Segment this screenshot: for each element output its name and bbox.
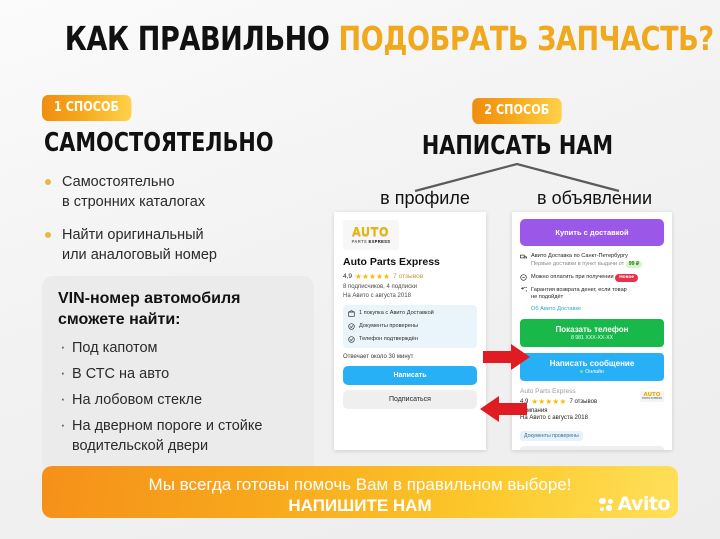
box-icon <box>348 310 355 317</box>
online-dot-icon <box>580 370 583 373</box>
title-part-gold: ПОДОБРАТЬ ЗАПЧАСТЬ? <box>339 19 714 58</box>
step-badge-two: 2 СПОСОБ <box>472 98 561 124</box>
check-circle-icon <box>348 336 355 343</box>
profile-screenshot-card: AUTO PARTS EXPRESS Auto Parts Express 4,… <box>334 212 486 450</box>
badge-delivery-purchase: 1 покупка с Авито Доставкой <box>348 310 472 317</box>
rating-value: 4,9 <box>343 273 352 280</box>
about-delivery-link[interactable]: Об Авито Доставке <box>531 306 664 312</box>
seller-reviews-link[interactable]: 7 отзывов <box>569 399 597 405</box>
arrow-left-icon <box>480 396 528 422</box>
avito-dots-icon <box>599 498 614 512</box>
avito-logo: Avito <box>599 495 670 514</box>
method-two-column-header: 2 СПОСОБ НАПИСАТЬ НАМ <box>352 98 682 159</box>
step-badge-one: 1 СПОСОБ <box>42 95 131 121</box>
arrow-right-icon <box>483 344 531 370</box>
wallet-icon <box>520 274 527 281</box>
list-item: Под капотом <box>58 339 298 358</box>
seller-since: На Авито с августа 2018 <box>520 415 664 421</box>
show-phone-button[interactable]: Показать телефон 8 981 XXX-XX-XX <box>520 319 664 347</box>
masked-phone-number: 8 981 XXX-XX-XX <box>520 335 664 341</box>
method-two-heading: НАПИСАТЬ НАМ <box>421 133 612 159</box>
badge-phone-confirmed: Телефон подтверждён <box>348 336 472 343</box>
show-phone-label: Показать телефон <box>520 325 664 334</box>
method-one-column: 1 СПОСОБ САМОСТОЯТЕЛЬНО Самостоятельнов … <box>42 95 342 278</box>
followers-count: 8 подписчиков, 4 подписки <box>343 284 477 290</box>
truck-icon <box>520 253 527 260</box>
badge-label: 1 покупка с Авито Доставкой <box>359 310 434 316</box>
advert-screenshot-card: Купить с доставкой Авито Доставка по Сан… <box>512 212 672 450</box>
trust-badges-box: 1 покупка с Авито Доставкой Документы пр… <box>343 305 477 348</box>
badge-label: Телефон подтверждён <box>359 336 418 342</box>
delivery-subtitle: Первые доставки в пункт выдачи от <box>531 261 624 267</box>
seller-type: Компания <box>520 408 664 414</box>
new-badge: Новое <box>615 274 638 282</box>
write-message-label: Написать сообщение <box>520 359 664 368</box>
vin-info-card: VIN-номер автомобилясможете найти: Под к… <box>42 276 314 477</box>
vin-card-title: VIN-номер автомобилясможете найти: <box>58 289 298 331</box>
refund-guarantee-row: Гарантия возврата денег, если товарне по… <box>520 287 664 302</box>
return-arrow-icon <box>520 287 527 294</box>
subscribe-button[interactable]: Подписаться <box>343 390 477 409</box>
list-item: На дверном пороге и стойкеводительской д… <box>58 417 298 456</box>
rating-row: 4,9 ★★★★★ 7 отзывов <box>343 272 477 281</box>
list-item: В СТС на авто <box>58 365 298 384</box>
subscribe-seller-button[interactable]: Подписаться на продавца <box>520 446 664 450</box>
check-circle-icon <box>348 323 355 330</box>
delivery-price-pill: 99 ₽ <box>626 261 643 268</box>
sublabel-profile: в профиле <box>350 188 500 209</box>
page-title: КАК ПРАВИЛЬНО ПОДОБРАТЬ ЗАПЧАСТЬ? <box>0 22 720 55</box>
banner-line-one: Мы всегда готовы помочь Вам в правильном… <box>42 474 678 495</box>
delivery-title: Авито Доставка по Санкт-Петербургу <box>531 253 628 259</box>
auto-parts-express-logo: AUTO PARTS EXPRESS <box>343 220 399 250</box>
logo-sub-right: EXPRESS <box>368 239 390 244</box>
answer-time: Отвечает около 30 минут <box>343 354 477 360</box>
seller-block: AUTO PARTS EXPRESS Auto Parts Express 4,… <box>520 388 664 450</box>
payment-label: Можно оплатить при получении <box>531 274 614 280</box>
method-one-bullets: Самостоятельнов стронних каталогах Найти… <box>42 172 342 265</box>
badge-documents-verified: Документы проверены <box>348 323 472 330</box>
logo-main-text: AUTO <box>352 226 389 238</box>
method-one-heading: САМОСТОЯТЕЛЬНО <box>44 130 282 156</box>
write-message-button[interactable]: Написать сообщение Онлайн <box>520 353 664 381</box>
seller-logo-sub: PARTS EXPRESS <box>642 398 662 400</box>
seller-logo: AUTO PARTS EXPRESS <box>640 391 664 402</box>
avito-wordmark: Avito <box>617 495 670 514</box>
payment-on-receipt-row: Можно оплатить при получении Новое <box>520 274 664 282</box>
poster-root: КАК ПРАВИЛЬНО ПОДОБРАТЬ ЗАПЧАСТЬ? 1 СПОС… <box>0 0 720 539</box>
list-item: На лобовом стекле <box>58 391 298 410</box>
bottom-cta-banner: Мы всегда готовы помочь Вам в правильном… <box>42 466 678 518</box>
buy-with-delivery-button[interactable]: Купить с доставкой <box>520 219 664 246</box>
seller-docs-badge: Документы проверены <box>520 431 583 441</box>
stars-icon: ★★★★★ <box>531 397 566 406</box>
banner-line-two: НАПИШИТЕ НАМ <box>42 495 678 517</box>
title-part-black: КАК ПРАВИЛЬНО <box>65 19 330 58</box>
badge-label: Документы проверены <box>359 323 418 329</box>
delivery-info-row: Авито Доставка по Санкт-Петербургу Первы… <box>520 253 664 269</box>
shop-name: Auto Parts Express <box>343 256 477 268</box>
stars-icon: ★★★★★ <box>355 272 390 281</box>
online-status: Онлайн <box>585 369 604 375</box>
guarantee-label: Гарантия возврата денег, если товарне по… <box>531 287 627 302</box>
list-item: Самостоятельнов стронних каталогах <box>42 172 342 212</box>
logo-sub-left: PARTS <box>352 239 367 244</box>
vin-location-list: Под капотом В СТС на авто На лобовом сте… <box>58 339 298 456</box>
reviews-link[interactable]: 7 отзывов <box>393 273 423 280</box>
badge-row-one: 1 СПОСОБ <box>42 95 342 121</box>
member-since: На Авито с августа 2018 <box>343 293 477 299</box>
list-item: Найти оригинальныйили аналоговый номер <box>42 225 342 265</box>
sublabel-advert: в объявлении <box>507 188 682 209</box>
write-message-button[interactable]: Написать <box>343 366 477 385</box>
